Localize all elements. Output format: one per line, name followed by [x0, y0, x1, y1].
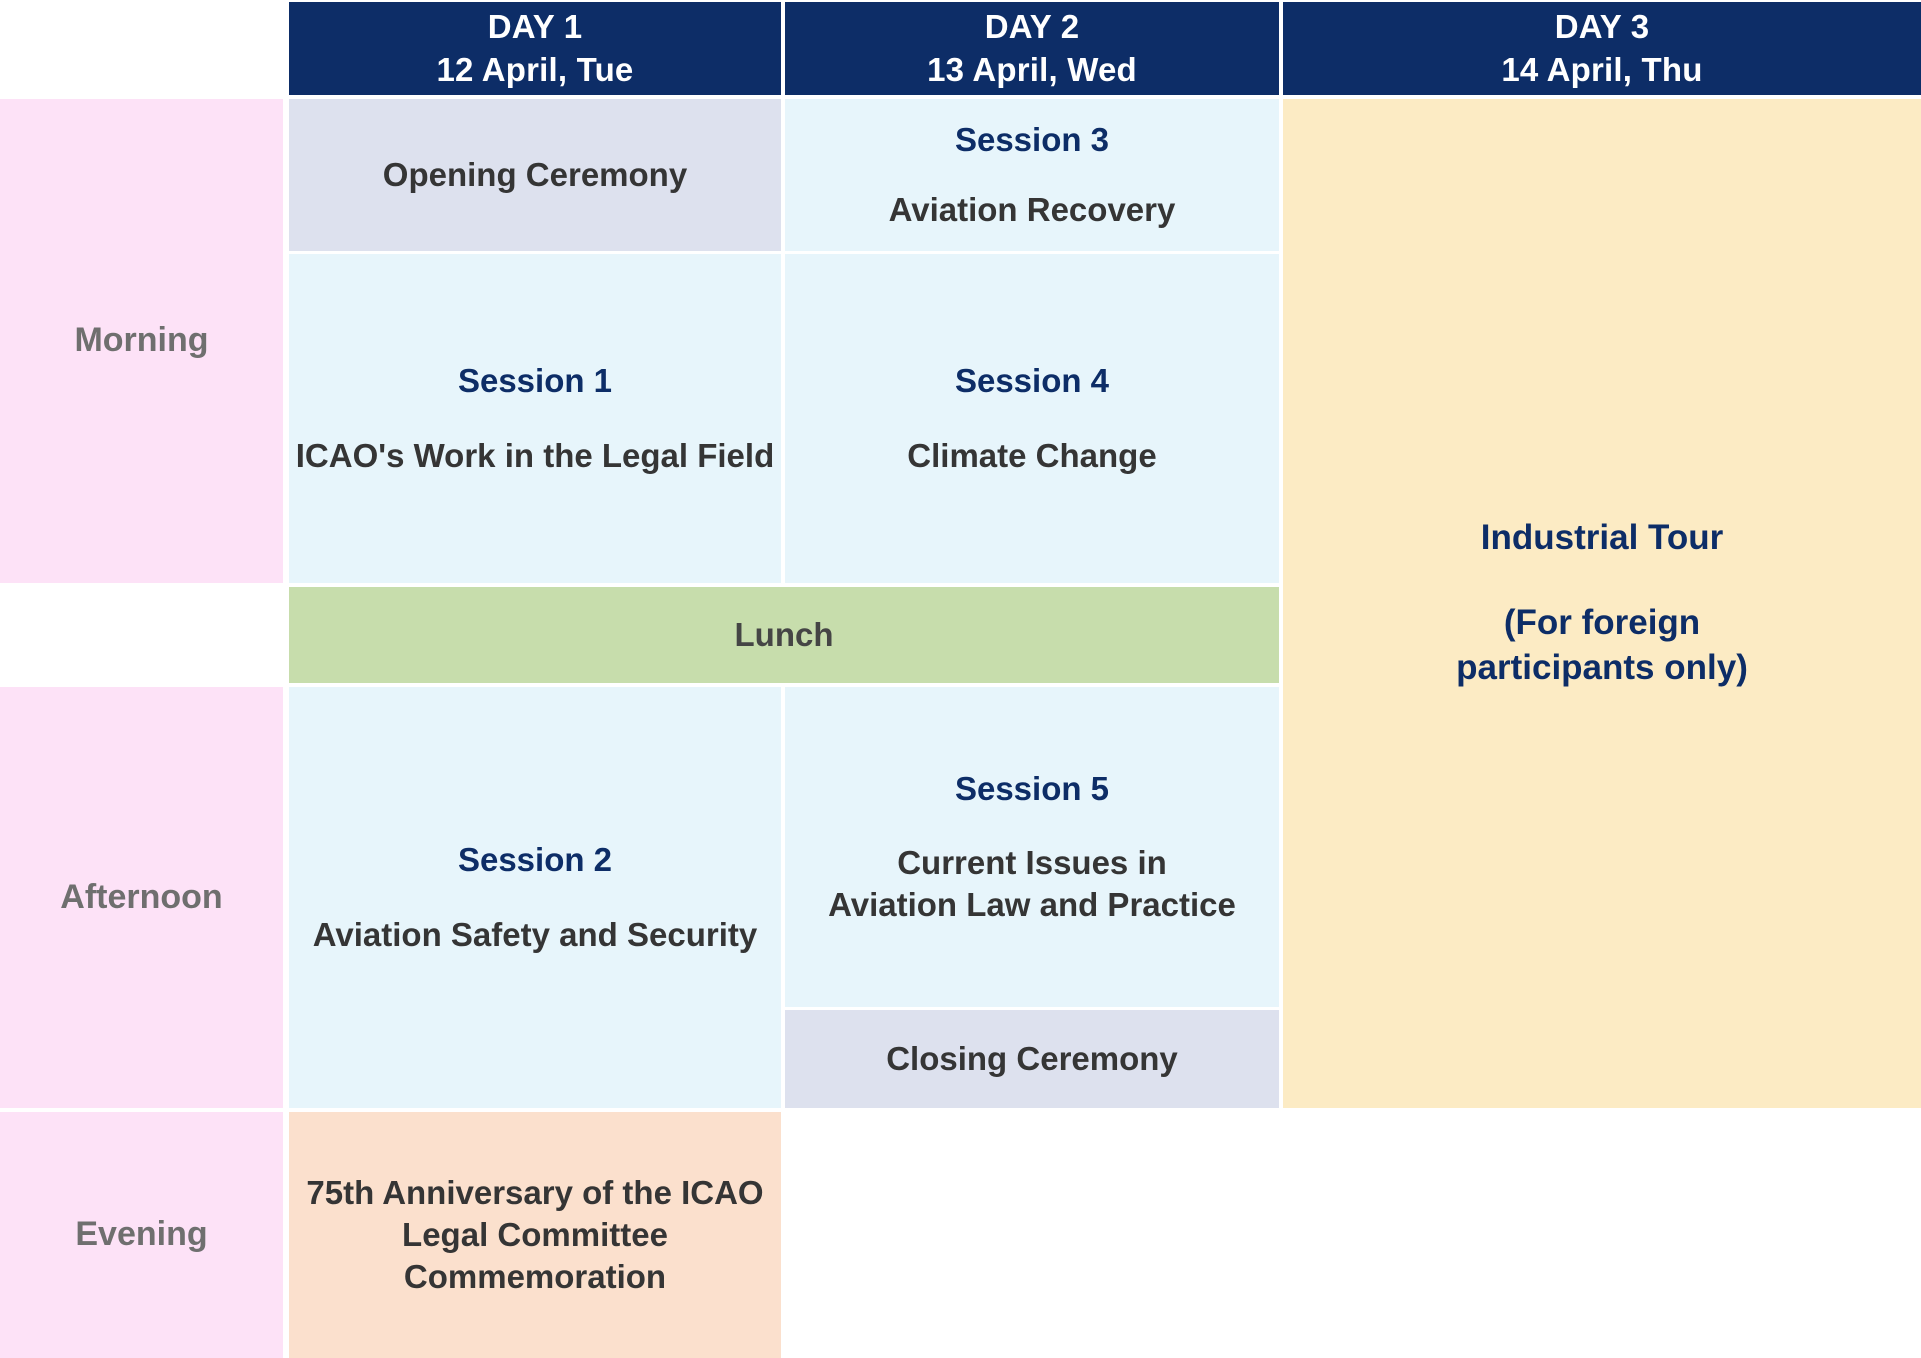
session-3-subtitle: Aviation Recovery: [889, 189, 1176, 231]
event-session-2: Session 2 Aviation Safety and Security: [289, 687, 781, 1108]
day-header-day3: DAY 3 14 April, Thu: [1283, 2, 1921, 95]
day3-label: DAY 3: [1555, 6, 1650, 48]
industrial-tour-title: Industrial Tour: [1481, 516, 1723, 561]
event-opening-ceremony: Opening Ceremony: [289, 99, 781, 251]
industrial-tour-note: (For foreign participants only): [1456, 601, 1748, 691]
day2-label: DAY 2: [985, 6, 1080, 48]
session-1-title: Session 1: [458, 360, 612, 402]
event-session-1: Session 1 ICAO's Work in the Legal Field: [289, 254, 781, 583]
period-label-morning: Morning: [0, 99, 283, 583]
day-header-day1: DAY 1 12 April, Tue: [289, 2, 781, 95]
event-anniversary-commemoration: 75th Anniversary of the ICAO Legal Commi…: [289, 1112, 781, 1358]
event-industrial-tour: Industrial Tour (For foreign participant…: [1283, 99, 1921, 1108]
session-2-title: Session 2: [458, 839, 612, 881]
session-5-title: Session 5: [955, 768, 1109, 810]
conference-schedule-table: DAY 1 12 April, Tue DAY 2 13 April, Wed …: [0, 0, 1921, 1358]
session-2-subtitle: Aviation Safety and Security: [313, 914, 757, 956]
session-5-subtitle: Current Issues in Aviation Law and Pract…: [828, 842, 1236, 926]
event-session-3: Session 3 Aviation Recovery: [785, 99, 1279, 251]
day1-date: 12 April, Tue: [437, 49, 634, 91]
day1-label: DAY 1: [488, 6, 583, 48]
session-4-subtitle: Climate Change: [907, 435, 1156, 477]
period-label-afternoon: Afternoon: [0, 687, 283, 1108]
event-closing-ceremony: Closing Ceremony: [785, 1010, 1279, 1108]
day2-date: 13 April, Wed: [927, 49, 1137, 91]
period-label-evening: Evening: [0, 1112, 283, 1358]
session-1-subtitle: ICAO's Work in the Legal Field: [296, 435, 774, 477]
day3-date: 14 April, Thu: [1501, 49, 1702, 91]
session-4-title: Session 4: [955, 360, 1109, 402]
event-lunch: Lunch: [289, 587, 1279, 683]
session-3-title: Session 3: [955, 119, 1109, 161]
event-session-5: Session 5 Current Issues in Aviation Law…: [785, 687, 1279, 1007]
event-session-4: Session 4 Climate Change: [785, 254, 1279, 583]
day-header-day2: DAY 2 13 April, Wed: [785, 2, 1279, 95]
